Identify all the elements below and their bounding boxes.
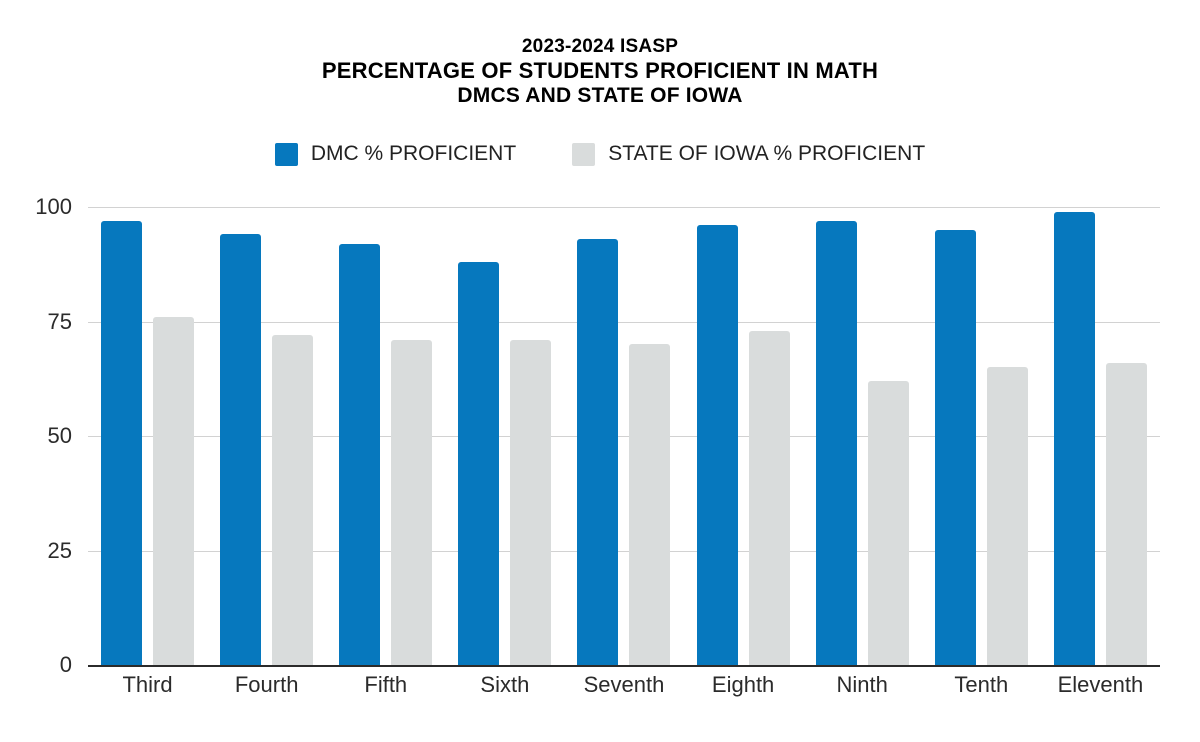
bar[interactable] — [577, 239, 618, 665]
legend-item[interactable]: STATE OF IOWA % PROFICIENT — [572, 142, 925, 166]
bar[interactable] — [816, 221, 857, 665]
y-axis-tick-label: 0 — [60, 652, 72, 678]
x-axis-tick-label: Fourth — [207, 672, 326, 698]
bar-group — [1041, 207, 1160, 665]
x-axis-tick-label: Fifth — [326, 672, 445, 698]
bar[interactable] — [339, 244, 380, 665]
bar[interactable] — [101, 221, 142, 665]
bar-group — [207, 207, 326, 665]
chart-title-line-1: 2023-2024 ISASP — [0, 36, 1200, 58]
bar[interactable] — [272, 335, 313, 665]
x-axis-tick-label: Eleventh — [1041, 672, 1160, 698]
bar[interactable] — [987, 367, 1028, 665]
bar[interactable] — [1106, 363, 1147, 665]
chart-title-line-3: DMCS AND STATE OF IOWA — [0, 84, 1200, 109]
x-axis-tick-label: Eighth — [684, 672, 803, 698]
bar[interactable] — [697, 225, 738, 665]
y-axis-tick-label: 75 — [48, 309, 72, 335]
bar[interactable] — [935, 230, 976, 665]
x-axis-tick-label: Tenth — [922, 672, 1041, 698]
bar[interactable] — [458, 262, 499, 665]
bar[interactable] — [868, 381, 909, 665]
y-axis-tick-label: 25 — [48, 538, 72, 564]
bar-group — [88, 207, 207, 665]
x-axis-tick-label: Seventh — [564, 672, 683, 698]
bar-group — [922, 207, 1041, 665]
bar-group — [684, 207, 803, 665]
legend-item-label: STATE OF IOWA % PROFICIENT — [608, 142, 925, 166]
x-axis-tick-label: Sixth — [445, 672, 564, 698]
bar[interactable] — [391, 340, 432, 665]
x-axis-tick-labels: ThirdFourthFifthSixthSeventhEighthNinthT… — [88, 672, 1160, 698]
legend-swatch-icon — [275, 143, 298, 166]
legend-item-label: DMC % PROFICIENT — [311, 142, 516, 166]
bar-chart: 2023-2024 ISASP PERCENTAGE OF STUDENTS P… — [0, 0, 1200, 742]
plot-area — [88, 207, 1160, 665]
bar-group — [803, 207, 922, 665]
bar[interactable] — [1054, 212, 1095, 665]
bar-group — [564, 207, 683, 665]
y-axis-tick-label: 50 — [48, 423, 72, 449]
bar[interactable] — [220, 234, 261, 665]
y-axis-tick-label: 100 — [35, 194, 72, 220]
chart-title: 2023-2024 ISASP PERCENTAGE OF STUDENTS P… — [0, 36, 1200, 109]
bar-group — [445, 207, 564, 665]
bar[interactable] — [510, 340, 551, 665]
bar-groups — [88, 207, 1160, 665]
chart-legend: DMC % PROFICIENTSTATE OF IOWA % PROFICIE… — [0, 142, 1200, 166]
x-axis-tick-label: Ninth — [803, 672, 922, 698]
legend-item[interactable]: DMC % PROFICIENT — [275, 142, 516, 166]
y-axis-tick-labels: 0255075100 — [0, 207, 88, 665]
bar[interactable] — [629, 344, 670, 665]
bar[interactable] — [749, 331, 790, 665]
bar[interactable] — [153, 317, 194, 665]
chart-title-line-2: PERCENTAGE OF STUDENTS PROFICIENT IN MAT… — [0, 58, 1200, 84]
x-axis-tick-label: Third — [88, 672, 207, 698]
bar-group — [326, 207, 445, 665]
legend-swatch-icon — [572, 143, 595, 166]
x-axis-line — [88, 665, 1160, 667]
